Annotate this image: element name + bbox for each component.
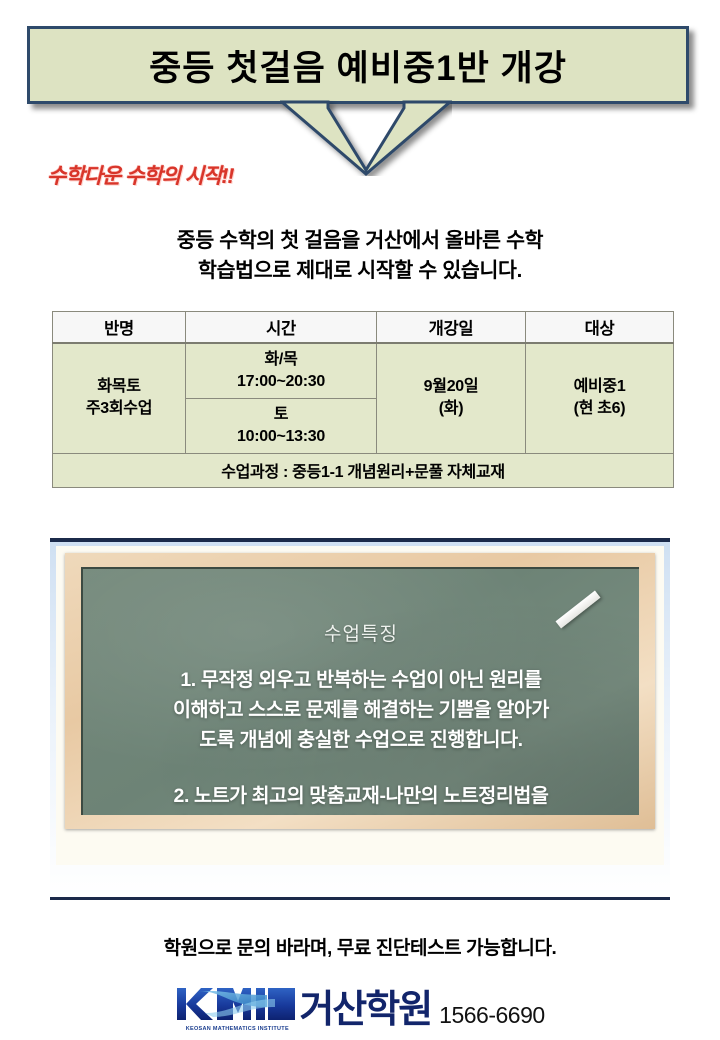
table-row: 화목토 주3회수업 화/목 17:00~20:30 9월20일 (화) 예비중1… [53,343,674,398]
column-header-target: 대상 [526,312,674,344]
schedule-table: 반명 시간 개강일 대상 화목토 주3회수업 화/목 17:00~20:30 9… [52,311,674,488]
title-banner: 중등 첫걸음 예비중1반 개강 [27,26,689,104]
cell-start-date: 9월20일 (화) [377,343,526,453]
slogan-text: 수학다운 수학의 시작!! [47,160,234,190]
cell-course-info: 수업과정 : 중등1-1 개념원리+문풀 자체교재 [53,453,674,487]
footer-brand-block: KEOSAN MATHEMATICS INSTITUTE 거산학원 1566-6… [0,985,720,1033]
column-header-class-name: 반명 [53,312,186,344]
brand-phone: 1566-6690 [439,1002,545,1029]
column-header-start-date: 개강일 [377,312,526,344]
subtitle-block: 중등 수학의 첫 걸음을 거산에서 올바른 수학 학습법으로 제대로 시작할 수… [0,226,720,286]
cell-target: 예비중1 (현 초6) [526,343,674,453]
target-grade: 예비중1 [526,376,673,398]
start-date-value: 9월20일 [377,376,525,398]
class-name-line-1: 화목토 [53,376,185,398]
chalkboard-surface: 수업특징 1. 무작정 외우고 반복하는 수업이 아닌 원리를 이해하고 스스로… [81,567,639,815]
chalkboard-image: 수업특징 1. 무작정 외우고 반복하는 수업이 아닌 원리를 이해하고 스스로… [50,538,670,900]
class-name-line-2: 주3회수업 [53,398,185,420]
chalkboard-matte: 수업특징 1. 무작정 외우고 반복하는 수업이 아닌 원리를 이해하고 스스로… [56,546,664,865]
cell-time-saturday: 토 10:00~13:30 [186,398,377,453]
time-weekday-days: 화/목 [186,349,376,371]
chalkboard-wooden-frame: 수업특징 1. 무작정 외우고 반복하는 수업이 아닌 원리를 이해하고 스스로… [65,553,655,829]
column-header-time: 시간 [186,312,377,344]
subtitle-line-1: 중등 수학의 첫 걸음을 거산에서 올바른 수학 [0,226,720,256]
kmi-logo-subtext: KEOSAN MATHEMATICS INSTITUTE [177,1026,297,1032]
point-1-line-1: 1. 무작정 외우고 반복하는 수업이 아닌 원리를 [83,665,639,695]
chalkboard-point-2: 2. 노트가 최고의 맞춤교재-나만의 노트정리법을 가르치고 꾸준히 정리해 … [83,781,639,815]
cell-class-name: 화목토 주3회수업 [53,343,186,453]
chalkboard-title: 수업특징 [83,619,639,646]
time-weekday-hours: 17:00~20:30 [186,371,376,393]
subtitle-line-2: 학습법으로 제대로 시작할 수 있습니다. [0,256,720,286]
chalkboard-point-1: 1. 무작정 외우고 반복하는 수업이 아닌 원리를 이해하고 스스로 문제를 … [83,665,639,755]
point-1-line-2: 이해하고 스스로 문제를 해결하는 기쁨을 알아가 [83,695,639,725]
point-2-line-2: 가르치고 꾸준히 정리해 가는 습관을 길러줍니다. [83,811,639,815]
table-row: 수업과정 : 중등1-1 개념원리+문풀 자체교재 [53,453,674,487]
cell-time-weekday: 화/목 17:00~20:30 [186,343,377,398]
table-header-row: 반명 시간 개강일 대상 [53,312,674,344]
footer-note: 학원으로 문의 바라며, 무료 진단테스트 가능합니다. [0,933,720,960]
kmi-logo: KEOSAN MATHEMATICS INSTITUTE [175,985,297,1033]
start-date-weekday: (화) [377,398,525,420]
brand-name: 거산학원 [299,988,431,1032]
poster-title: 중등 첫걸음 예비중1반 개강 [149,40,567,91]
point-1-line-3: 도록 개념에 충실한 수업으로 진행합니다. [83,725,639,755]
point-2-line-1: 2. 노트가 최고의 맞춤교재-나만의 노트정리법을 [83,781,639,811]
kmi-logo-mark-icon [175,985,297,1023]
chalkboard-body: 1. 무작정 외우고 반복하는 수업이 아닌 원리를 이해하고 스스로 문제를 … [83,665,639,815]
target-current-grade: (현 초6) [526,398,673,420]
time-saturday-hours: 10:00~13:30 [186,426,376,448]
time-saturday-day: 토 [186,404,376,426]
down-arrow-icon [280,100,452,176]
